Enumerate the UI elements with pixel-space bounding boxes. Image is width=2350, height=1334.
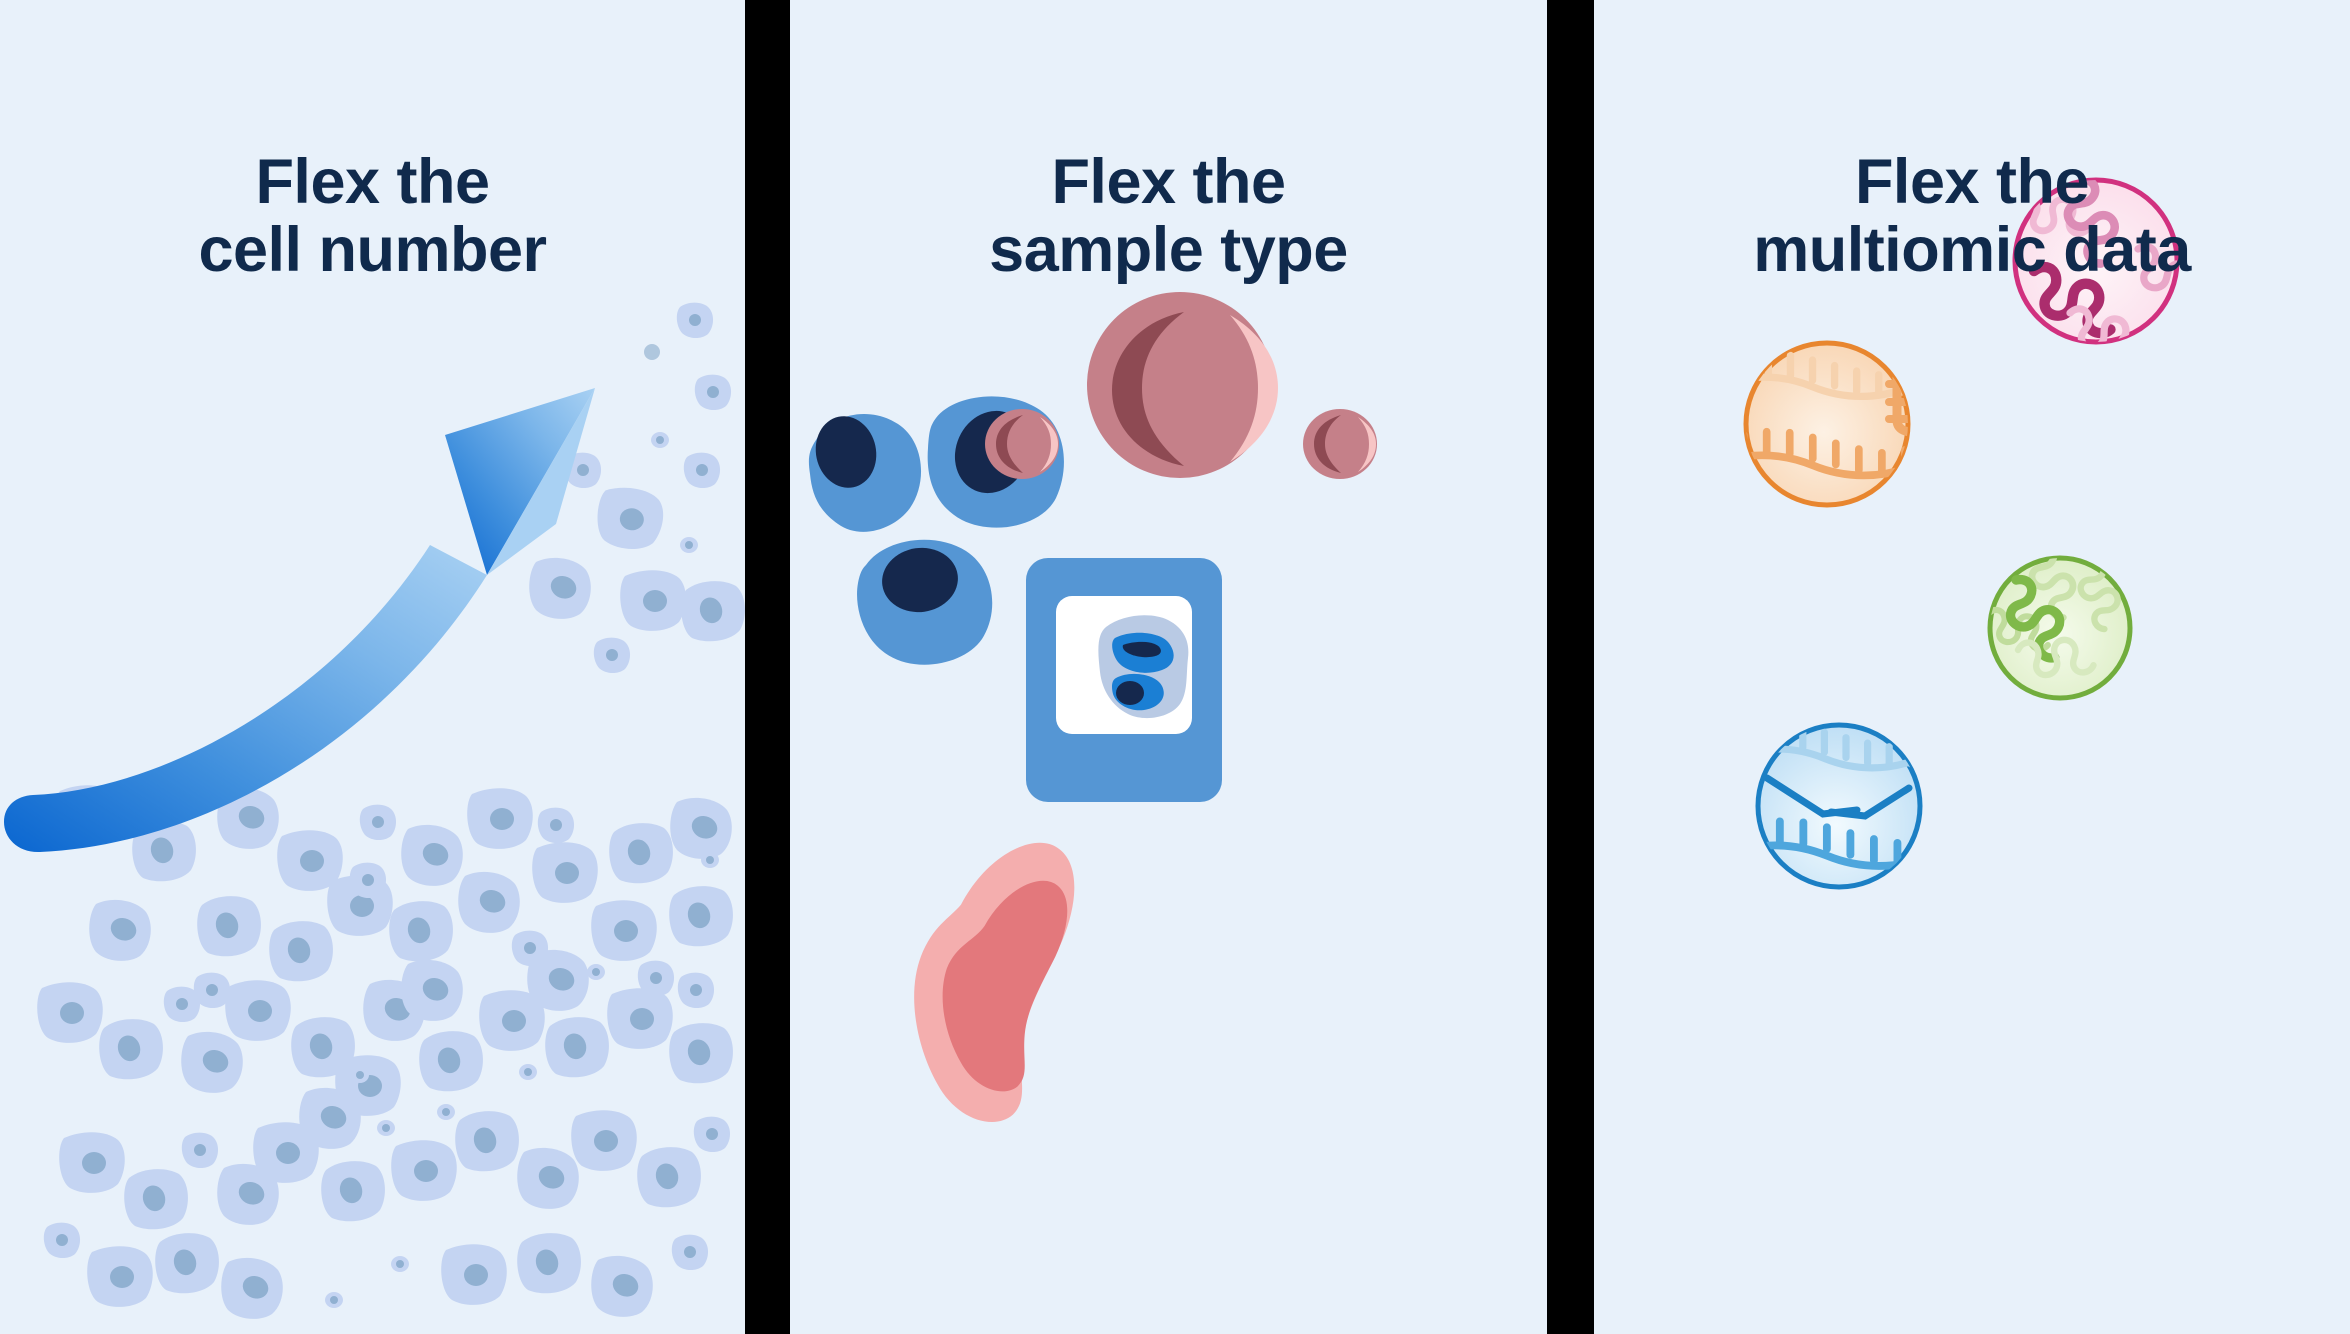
- dna-sphere-blue: [1723, 725, 1931, 887]
- blood-cell-large: [1087, 292, 1278, 478]
- panel-multiomic: Flex the multiomic data: [1594, 0, 2350, 1334]
- blood-cells: [985, 292, 1377, 479]
- protein-sphere-green: [1983, 542, 2130, 698]
- panel-cell-number: Flex the cell number: [0, 0, 745, 1334]
- growth-arrow: [4, 388, 595, 852]
- panel-sample-type: Flex the sample type: [790, 0, 1547, 1334]
- rna-sphere-orange: [1711, 343, 1947, 548]
- panel-divider-2: [1547, 0, 1594, 1334]
- illustration-stage: Flex the cell number: [0, 0, 2350, 1334]
- blood-cell-small-right: [1303, 409, 1377, 479]
- blood-cell-small-left: [985, 409, 1059, 479]
- ffpe-block: [1026, 558, 1222, 802]
- panel-title-sample-type: Flex the sample type: [790, 148, 1547, 284]
- tissue-blob: [914, 843, 1074, 1122]
- panel-divider-1: [745, 0, 790, 1334]
- immune-cell-bottom: [857, 540, 992, 665]
- immune-cell-left: [809, 411, 921, 532]
- panel-title-cell-number: Flex the cell number: [0, 148, 745, 284]
- panel-title-multiomic: Flex the multiomic data: [1594, 148, 2350, 284]
